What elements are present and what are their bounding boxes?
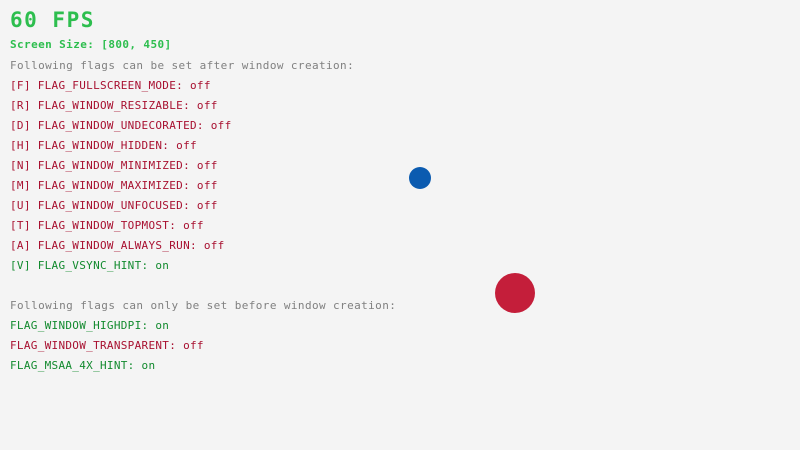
flag-row-window-highdpi: FLAG_WINDOW_HIGHDPI: on: [10, 320, 169, 331]
flag-row-fullscreen-mode[interactable]: [F] FLAG_FULLSCREEN_MODE: off: [10, 80, 211, 91]
flag-row-window-maximized[interactable]: [M] FLAG_WINDOW_MAXIMIZED: off: [10, 180, 218, 191]
flag-row-window-minimized[interactable]: [N] FLAG_WINDOW_MINIMIZED: off: [10, 160, 218, 171]
flag-row-vsync-hint[interactable]: [V] FLAG_VSYNC_HINT: on: [10, 260, 169, 271]
flag-row-window-hidden[interactable]: [H] FLAG_WINDOW_HIDDEN: off: [10, 140, 197, 151]
flag-row-window-undecorated[interactable]: [D] FLAG_WINDOW_UNDECORATED: off: [10, 120, 232, 131]
flag-row-window-resizable[interactable]: [R] FLAG_WINDOW_RESIZABLE: off: [10, 100, 218, 111]
flag-row-window-topmost[interactable]: [T] FLAG_WINDOW_TOPMOST: off: [10, 220, 204, 231]
hud-overlay: 60 FPS Screen Size: [800, 450] Following…: [0, 0, 800, 450]
flag-row-window-transparent: FLAG_WINDOW_TRANSPARENT: off: [10, 340, 204, 351]
screen-size-label: Screen Size: [800, 450]: [10, 39, 172, 50]
blue-circle-shape: [409, 167, 431, 189]
app-canvas[interactable]: 60 FPS Screen Size: [800, 450] Following…: [0, 0, 800, 450]
section-heading-before-creation: Following flags can only be set before w…: [10, 300, 396, 311]
flag-row-window-unfocused[interactable]: [U] FLAG_WINDOW_UNFOCUSED: off: [10, 200, 218, 211]
red-circle-shape: [495, 273, 535, 313]
fps-counter: 60 FPS: [10, 10, 95, 31]
flag-row-msaa-4x-hint: FLAG_MSAA_4X_HINT: on: [10, 360, 155, 371]
section-heading-after-creation: Following flags can be set after window …: [10, 60, 354, 71]
flag-row-window-always-run[interactable]: [A] FLAG_WINDOW_ALWAYS_RUN: off: [10, 240, 225, 251]
